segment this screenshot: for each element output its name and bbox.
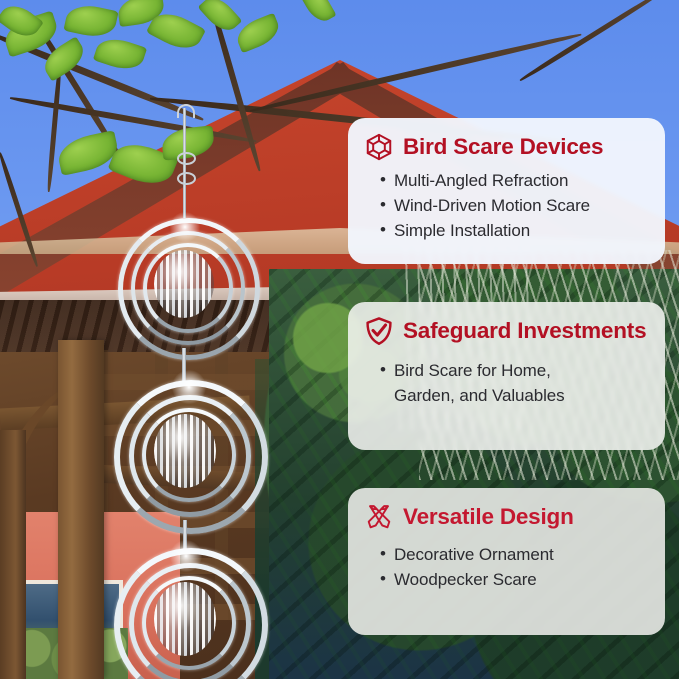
spinner-blades: [154, 414, 216, 488]
spinner-connector-rod: [182, 348, 186, 382]
feature-card-versatile-design: Versatile Design Decorative Ornament Woo…: [348, 488, 665, 635]
feature-card-safeguard-investments: Safeguard Investments Bird Scare for Hom…: [348, 302, 665, 450]
card-title: Versatile Design: [403, 504, 574, 530]
spinner-connector-rod: [183, 520, 187, 550]
shield-check-icon: [364, 316, 394, 346]
list-item: Decorative Ornament: [394, 542, 647, 567]
card-header: Safeguard Investments: [364, 316, 647, 346]
card-header: Versatile Design: [364, 502, 647, 532]
crossed-pencils-icon: [364, 502, 394, 532]
gem-hexagon-icon: [364, 132, 394, 162]
list-item: Bird Scare for Home, Garden, and Valuabl…: [394, 358, 609, 408]
feature-card-bird-scare-devices: Bird Scare Devices Multi-Angled Refracti…: [348, 118, 665, 264]
card-title: Safeguard Investments: [403, 318, 646, 344]
spinner-blades: [154, 582, 216, 656]
wooden-post-secondary: [0, 430, 26, 679]
spinner-hook-icon: [177, 104, 195, 118]
spinner-chain-link: [177, 172, 196, 185]
product-feature-image: Bird Scare Devices Multi-Angled Refracti…: [0, 0, 679, 679]
list-item: Multi-Angled Refraction: [394, 168, 647, 193]
spinner-blades: [154, 250, 214, 318]
wind-spinner-top: [118, 218, 250, 350]
spinner-chain-link: [177, 152, 196, 165]
wind-spinner-bottom: [114, 548, 256, 679]
card-bullet-list: Decorative Ornament Woodpecker Scare: [364, 542, 647, 592]
card-header: Bird Scare Devices: [364, 132, 647, 162]
list-item: Woodpecker Scare: [394, 567, 647, 592]
card-bullet-list: Bird Scare for Home, Garden, and Valuabl…: [364, 358, 647, 408]
card-bullet-list: Multi-Angled Refraction Wind-Driven Moti…: [364, 168, 647, 243]
card-title: Bird Scare Devices: [403, 134, 603, 160]
list-item: Wind-Driven Motion Scare: [394, 193, 647, 218]
list-item: Simple Installation: [394, 218, 647, 243]
wind-spinner-middle: [114, 380, 256, 522]
wooden-post-main: [58, 340, 104, 679]
